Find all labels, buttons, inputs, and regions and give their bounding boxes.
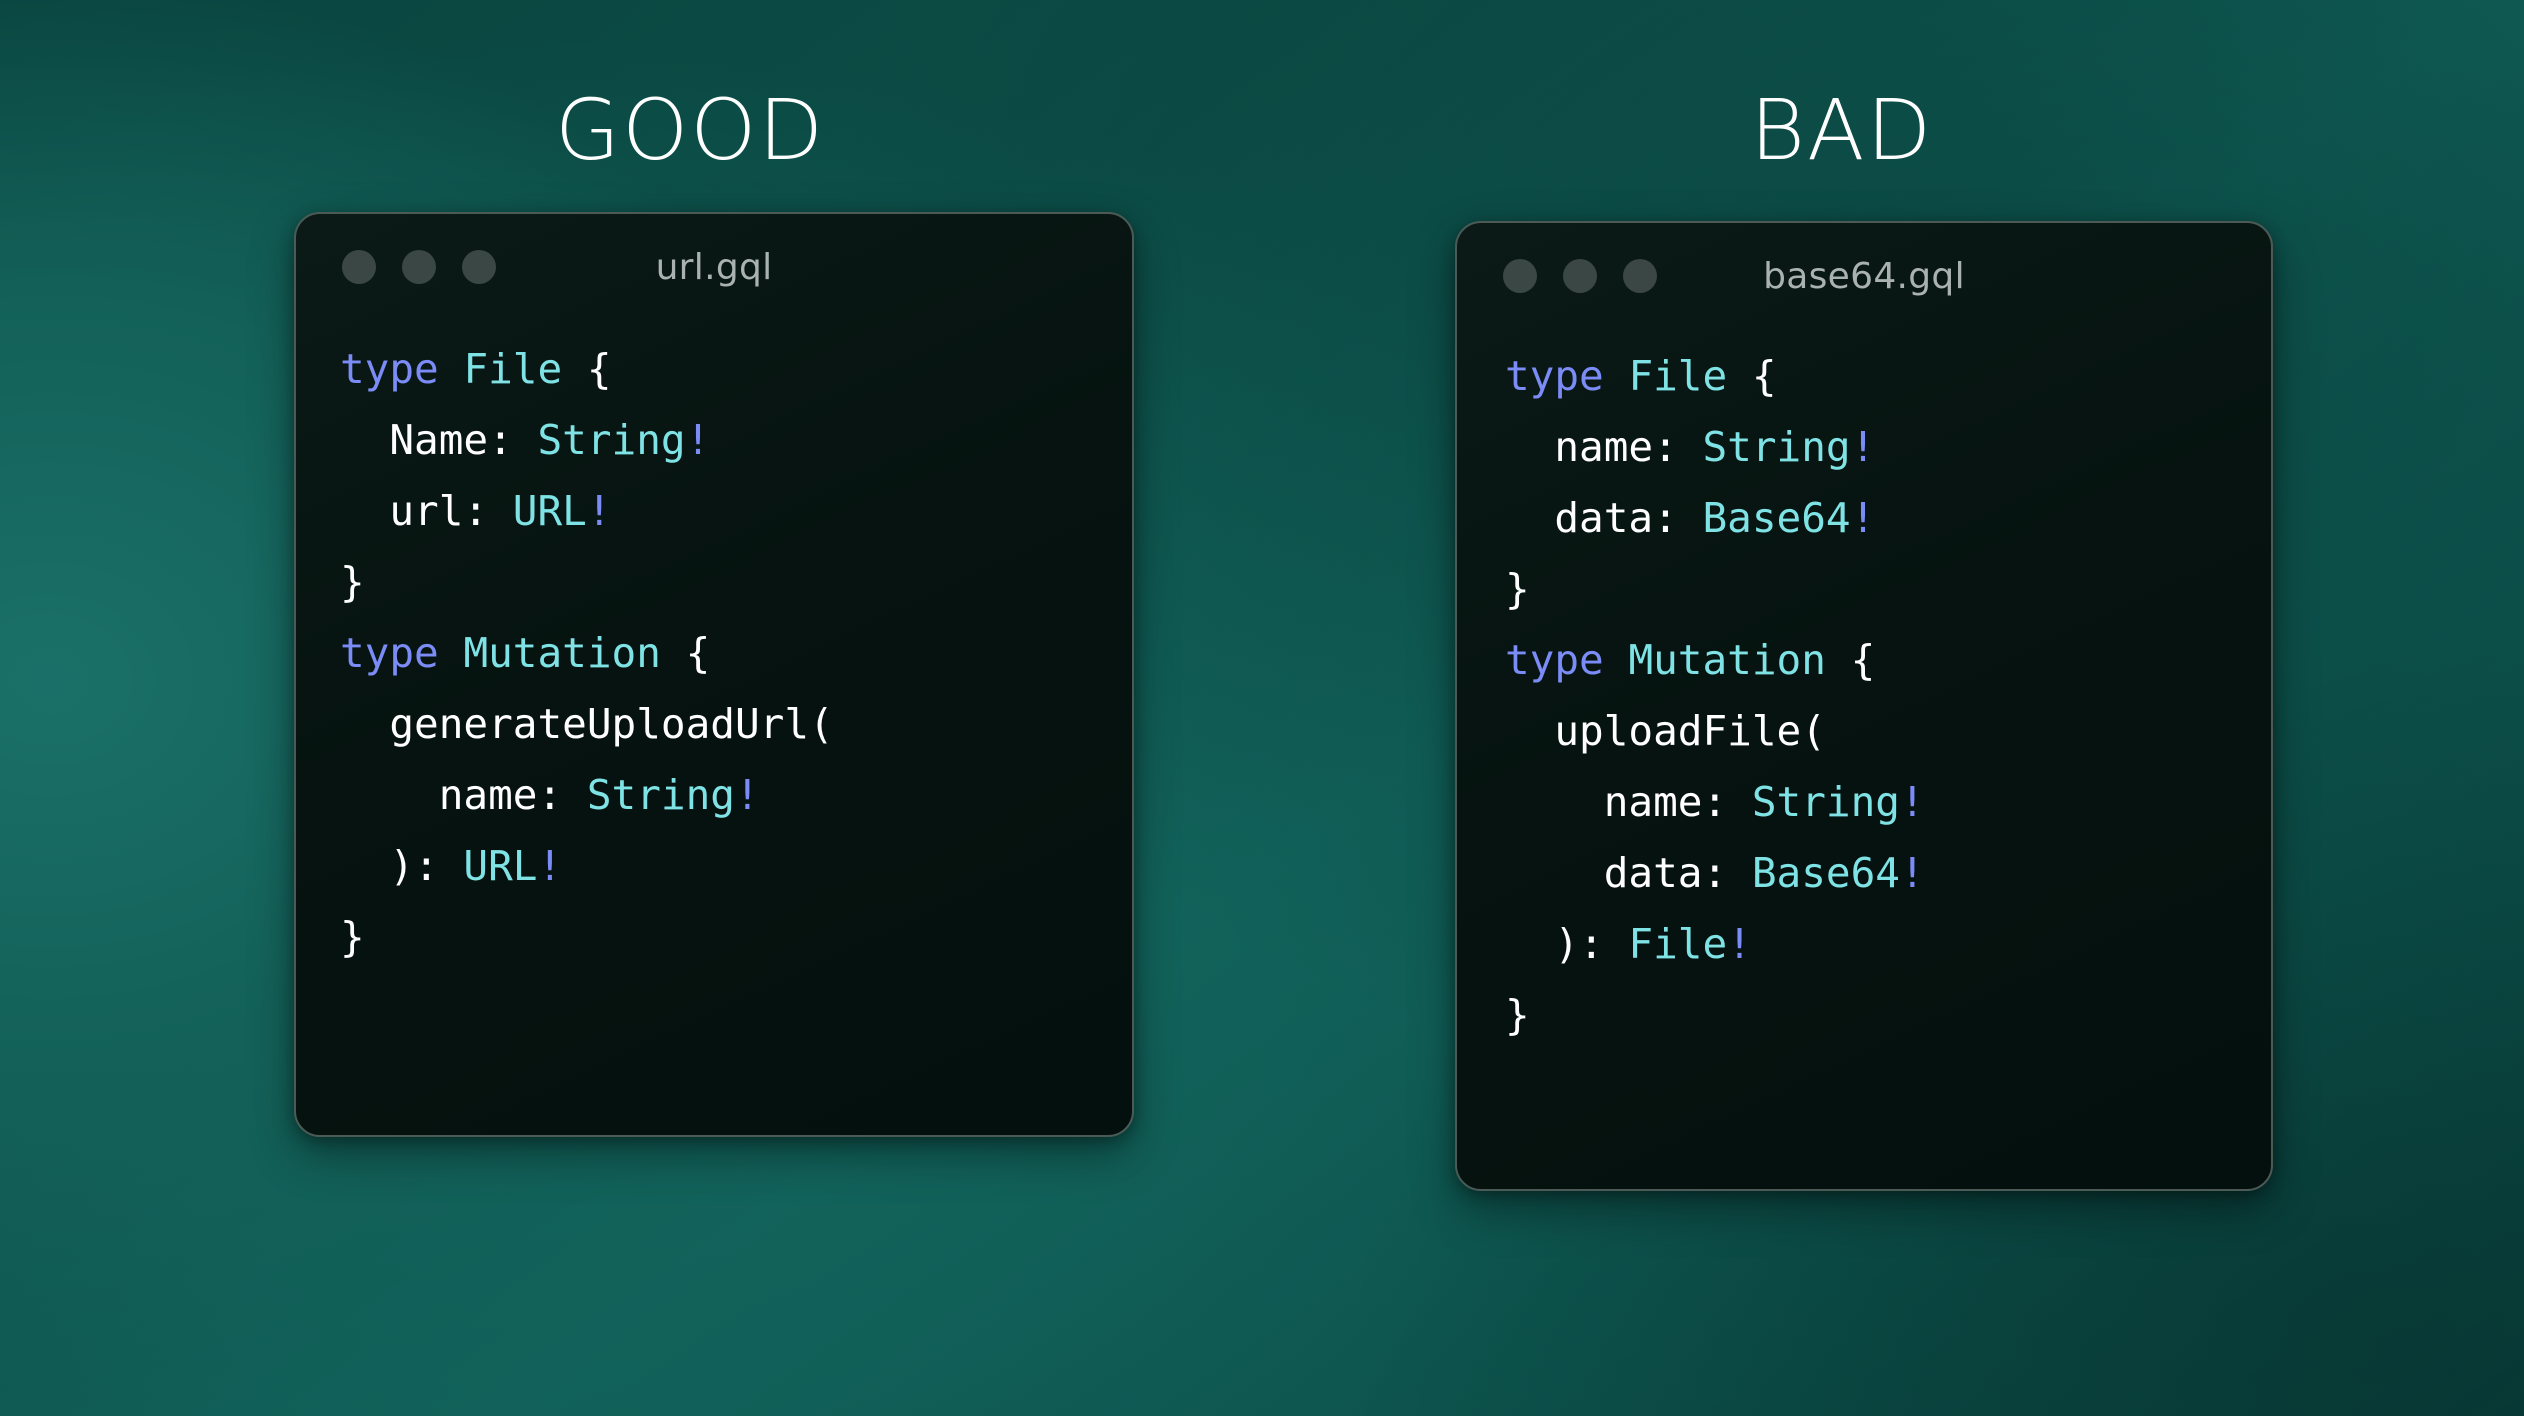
code-block-good: type File { Name: String! url: URL!}type…: [296, 320, 1132, 973]
code-line: type Mutation {: [340, 618, 1132, 689]
code-token-plain: ):: [340, 842, 463, 890]
code-token-type: String: [1702, 423, 1850, 471]
code-token-plain: url:: [340, 487, 513, 535]
card-titlebar-bad: base64.gql: [1457, 223, 2271, 329]
code-token-plain: }: [340, 558, 365, 606]
code-token-type: File: [1628, 920, 1727, 968]
code-line: ): URL!: [340, 831, 1132, 902]
code-line: }: [1505, 554, 2271, 625]
code-token-plain: }: [1505, 991, 1530, 1039]
code-token-plain: generateUploadUrl(: [340, 700, 834, 748]
code-token-bang: !: [1727, 920, 1752, 968]
code-token-bang: !: [537, 842, 562, 890]
code-token-plain: uploadFile(: [1505, 707, 1826, 755]
code-token-plain: [1604, 636, 1629, 684]
code-token-plain: [439, 345, 464, 393]
code-token-plain: [1604, 352, 1629, 400]
code-token-kw: type: [340, 345, 439, 393]
code-token-plain: name:: [340, 771, 587, 819]
code-token-bang: !: [735, 771, 760, 819]
traffic-light-close-icon[interactable]: [342, 250, 376, 284]
code-line: data: Base64!: [1505, 483, 2271, 554]
code-token-plain: name:: [1505, 423, 1702, 471]
code-token-bang: !: [1851, 494, 1876, 542]
window-controls-good: [296, 250, 496, 284]
code-line: type Mutation {: [1505, 625, 2271, 696]
code-token-type: URL: [513, 487, 587, 535]
code-line: }: [340, 902, 1132, 973]
code-token-bang: !: [587, 487, 612, 535]
traffic-light-minimize-icon[interactable]: [402, 250, 436, 284]
code-card-good: url.gql type File { Name: String! url: U…: [294, 212, 1134, 1137]
code-token-plain: {: [1826, 636, 1875, 684]
code-token-bang: !: [1851, 423, 1876, 471]
code-token-type: Mutation: [1628, 636, 1825, 684]
traffic-light-maximize-icon[interactable]: [462, 250, 496, 284]
code-line: url: URL!: [340, 476, 1132, 547]
code-block-bad: type File { name: String! data: Base64!}…: [1457, 329, 2271, 1051]
code-line: type File {: [1505, 341, 2271, 412]
traffic-light-maximize-icon[interactable]: [1623, 259, 1657, 293]
window-controls-bad: [1457, 259, 1657, 293]
code-line: }: [1505, 980, 2271, 1051]
code-token-kw: type: [1505, 352, 1604, 400]
code-token-type: File: [463, 345, 562, 393]
code-token-plain: }: [340, 913, 365, 961]
code-token-kw: type: [1505, 636, 1604, 684]
code-token-bang: !: [1900, 778, 1925, 826]
code-token-plain: data:: [1505, 494, 1702, 542]
code-line: name: String!: [340, 760, 1132, 831]
code-token-type: String: [537, 416, 685, 464]
code-token-plain: {: [562, 345, 611, 393]
code-token-bang: !: [1900, 849, 1925, 897]
code-line: generateUploadUrl(: [340, 689, 1132, 760]
code-line: data: Base64!: [1505, 838, 2271, 909]
code-line: name: String!: [1505, 412, 2271, 483]
code-token-type: String: [587, 771, 735, 819]
code-token-kw: type: [340, 629, 439, 677]
panel-heading-good: GOOD: [555, 88, 825, 172]
code-token-type: URL: [463, 842, 537, 890]
code-token-plain: {: [661, 629, 710, 677]
code-card-bad: base64.gql type File { name: String! dat…: [1455, 221, 2273, 1191]
code-token-type: Base64: [1702, 494, 1850, 542]
code-token-plain: Name:: [340, 416, 537, 464]
code-token-type: File: [1628, 352, 1727, 400]
traffic-light-close-icon[interactable]: [1503, 259, 1537, 293]
code-line: name: String!: [1505, 767, 2271, 838]
code-line: ): File!: [1505, 909, 2271, 980]
code-line: uploadFile(: [1505, 696, 2271, 767]
card-titlebar-good: url.gql: [296, 214, 1132, 320]
code-token-type: Mutation: [463, 629, 660, 677]
code-token-plain: {: [1727, 352, 1776, 400]
code-token-type: Base64: [1752, 849, 1900, 897]
code-token-plain: ):: [1505, 920, 1628, 968]
panel-heading-bad: BAD: [1750, 88, 1933, 172]
code-token-plain: [439, 629, 464, 677]
code-token-bang: !: [686, 416, 711, 464]
traffic-light-minimize-icon[interactable]: [1563, 259, 1597, 293]
code-token-plain: name:: [1505, 778, 1752, 826]
code-token-plain: }: [1505, 565, 1530, 613]
code-line: }: [340, 547, 1132, 618]
code-token-type: String: [1752, 778, 1900, 826]
code-line: Name: String!: [340, 405, 1132, 476]
code-token-plain: data:: [1505, 849, 1752, 897]
code-line: type File {: [340, 334, 1132, 405]
